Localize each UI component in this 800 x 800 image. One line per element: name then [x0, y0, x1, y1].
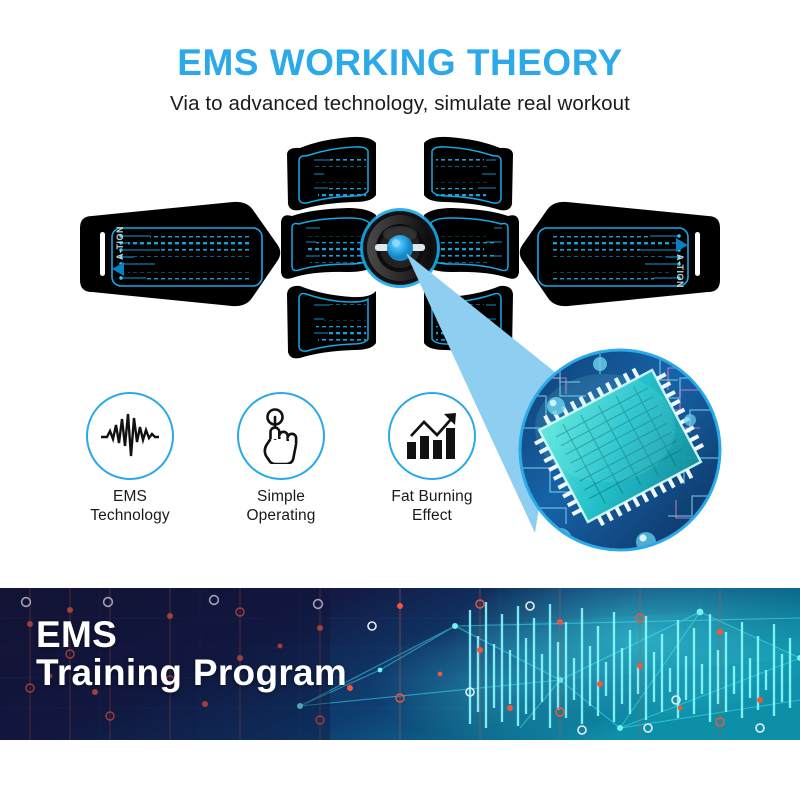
page-title: EMS WORKING THEORY: [0, 44, 800, 83]
feature-label-3: Fat Burning Effect: [391, 487, 472, 526]
feature-circle-1: [86, 392, 174, 480]
feature-circle-2: [237, 392, 325, 480]
banner-line-1: EMS: [36, 616, 347, 654]
feature-label-1-line1: EMS: [113, 488, 147, 505]
feature-item-fat-burning-effect[interactable]: Fat Burning Effect: [368, 392, 496, 542]
header: EMS WORKING THEORY Via to advanced techn…: [0, 44, 800, 116]
bottom-banner: EMS Training Program: [0, 588, 800, 740]
bar-chart-growth-icon: [403, 410, 461, 462]
feature-list: EMS Technology Simple Operating: [66, 392, 496, 542]
feature-item-simple-operating[interactable]: Simple Operating: [217, 392, 345, 542]
circuit-inset: [519, 349, 721, 552]
feature-label-2: Simple Operating: [247, 487, 316, 526]
banner-heading: EMS Training Program: [36, 616, 347, 693]
product-infographic: EMS WORKING THEORY Via to advanced techn…: [0, 0, 800, 800]
feature-item-ems-technology[interactable]: EMS Technology: [66, 392, 194, 542]
feature-label-1-line2: Technology: [90, 507, 169, 524]
feature-label-2-line2: Operating: [247, 507, 316, 524]
feature-label-2-line1: Simple: [257, 488, 305, 505]
waveform-icon: [99, 412, 161, 460]
page-subtitle: Via to advanced technology, simulate rea…: [0, 92, 800, 116]
feature-circle-3: [388, 392, 476, 480]
banner-line-2: Training Program: [36, 654, 347, 692]
tap-hand-icon: [255, 408, 307, 464]
feature-label-3-line1: Fat Burning: [391, 488, 472, 505]
feature-label-3-line2: Effect: [412, 507, 452, 524]
feature-label-1: EMS Technology: [90, 487, 169, 526]
